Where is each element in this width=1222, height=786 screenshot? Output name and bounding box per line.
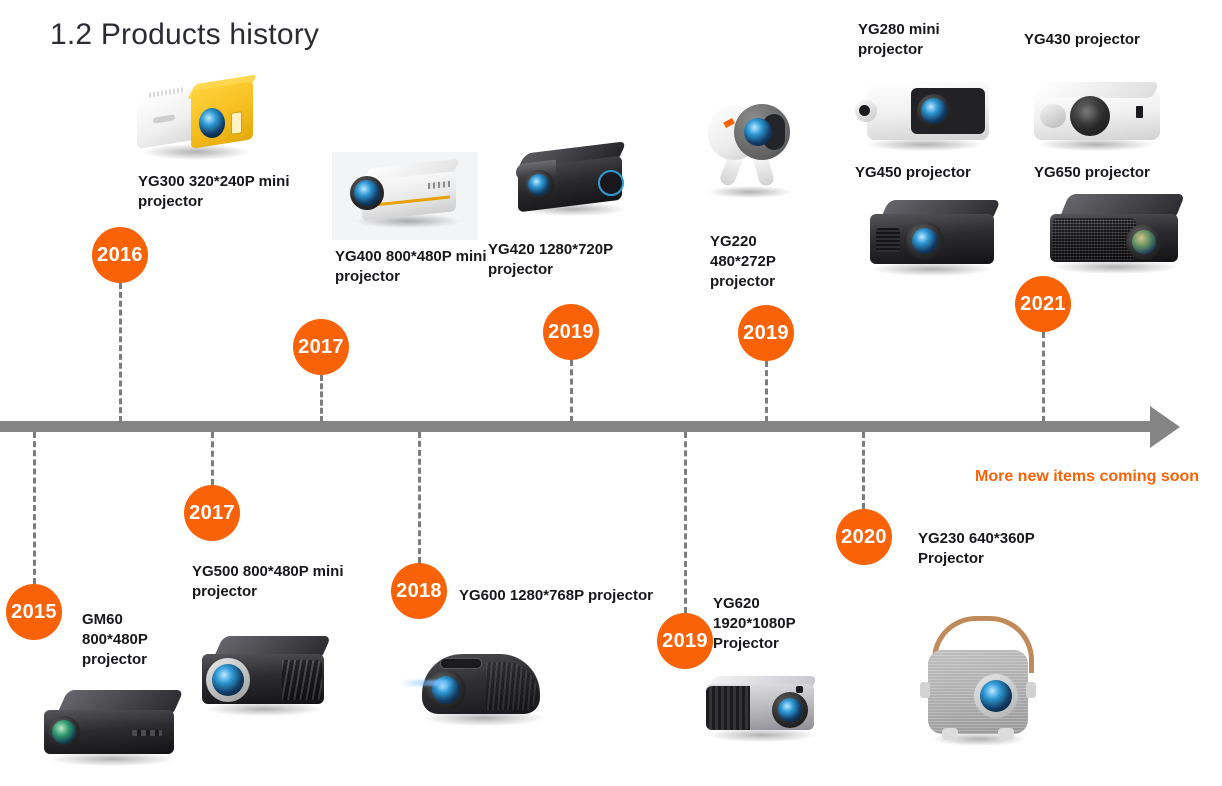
drop-shadow	[708, 728, 816, 742]
yg500-lens	[212, 664, 244, 696]
product-image-yg430	[1026, 80, 1166, 154]
year-bubble-2019-yg620[interactable]: 2019	[657, 613, 713, 669]
coming-soon-note: More new items coming soon	[975, 468, 1199, 486]
yg280-lens	[921, 98, 947, 124]
stem-2017-yg400	[320, 375, 323, 422]
yg500-rear-fins	[282, 660, 322, 700]
year-bubble-2019-yg220[interactable]: 2019	[738, 305, 794, 361]
drop-shadow	[50, 752, 174, 766]
yg420-dial	[598, 170, 624, 196]
year-bubble-2017-yg400[interactable]: 2017	[293, 319, 349, 375]
yg230-knob-right	[1026, 682, 1036, 698]
label-yg650: YG650 projector	[1034, 163, 1184, 183]
product-image-yg650	[1044, 192, 1189, 278]
label-yg300: YG300 320*240P mini projector	[138, 172, 328, 212]
label-yg230: YG230 640*360P Projector	[918, 529, 1068, 569]
product-image-yg220	[700, 100, 800, 200]
yg420-lens	[528, 174, 550, 196]
drop-shadow	[206, 702, 322, 716]
product-image-yg230	[916, 616, 1042, 748]
product-image-yg400	[332, 152, 478, 240]
yg620-ir-dot	[796, 686, 803, 693]
yg430-lens	[1076, 102, 1104, 130]
yg400-lens	[354, 180, 380, 206]
yg620-vent-side	[706, 686, 750, 730]
yg280-side-port	[859, 105, 870, 116]
gm60-lens	[52, 720, 76, 744]
page-title: 1.2 Products history	[50, 18, 319, 52]
yg430-top-plate	[1037, 82, 1159, 98]
year-bubble-2021[interactable]: 2021	[1015, 276, 1071, 332]
label-yg430: YG430 projector	[1024, 30, 1174, 50]
timeline-infographic: 1.2 Products history 2016 2017 2019 2019…	[0, 0, 1222, 786]
yg600-light-beam	[400, 680, 454, 686]
stem-2016	[119, 283, 122, 422]
yg650-mesh	[1052, 218, 1136, 260]
year-bubble-2016[interactable]: 2016	[92, 227, 148, 283]
label-yg420: YG420 1280*720P projector	[488, 240, 663, 280]
stem-2015	[33, 432, 36, 584]
yg430-indicator	[1136, 106, 1143, 118]
product-image-yg300	[137, 78, 257, 162]
yg650-lens	[1132, 230, 1156, 254]
product-image-yg450	[862, 196, 1002, 278]
timeline-axis-bar	[0, 421, 1155, 432]
label-yg600: YG600 1280*768P projector	[459, 586, 709, 606]
stem-2019-yg220	[765, 361, 768, 422]
product-image-yg280	[855, 74, 995, 154]
label-yg450: YG450 projector	[855, 163, 1005, 183]
label-yg220: YG220 480*272P projector	[710, 232, 820, 291]
year-bubble-2018[interactable]: 2018	[391, 563, 447, 619]
drop-shadow	[1054, 260, 1178, 274]
label-yg280: YG280 mini projector	[858, 20, 968, 60]
timeline-arrow-head	[1150, 406, 1180, 448]
product-image-gm60	[40, 690, 185, 770]
product-image-yg620	[700, 668, 825, 748]
yg300-focus-dial	[231, 111, 242, 135]
stem-2020	[862, 432, 865, 509]
year-bubble-2017-yg500[interactable]: 2017	[184, 485, 240, 541]
drop-shadow	[708, 186, 792, 198]
year-bubble-2015[interactable]: 2015	[6, 584, 62, 640]
stem-2021	[1042, 332, 1045, 422]
label-yg620: YG620 1920*1080P Projector	[713, 594, 818, 653]
yg450-lens	[912, 228, 938, 254]
yg430-focus-knob	[1040, 104, 1066, 128]
drop-shadow	[872, 262, 992, 276]
stem-2017-yg500	[211, 432, 214, 485]
label-yg400: YG400 800*480P mini projector	[335, 247, 505, 287]
label-gm60: GM60 800*480P projector	[82, 610, 178, 669]
yg230-foot-right	[998, 728, 1014, 740]
product-image-yg420	[510, 140, 638, 224]
product-image-yg600	[412, 636, 557, 732]
yg600-top-recess	[440, 658, 482, 669]
yg230-knob-left	[920, 682, 930, 698]
yg450-side-vent	[876, 228, 900, 252]
label-yg500: YG500 800*480P mini projector	[192, 562, 382, 602]
year-bubble-2020[interactable]: 2020	[836, 509, 892, 565]
product-image-yg500	[198, 634, 333, 720]
yg300-lens	[199, 108, 225, 138]
yg230-foot-left	[942, 728, 958, 740]
yg620-lens	[778, 698, 802, 722]
gm60-ports	[132, 730, 162, 736]
yg220-lens	[744, 118, 772, 146]
stem-2019-yg420	[570, 360, 573, 422]
year-bubble-2019-yg420[interactable]: 2019	[543, 304, 599, 360]
yg230-lens	[980, 680, 1012, 712]
stem-2018	[418, 432, 421, 563]
